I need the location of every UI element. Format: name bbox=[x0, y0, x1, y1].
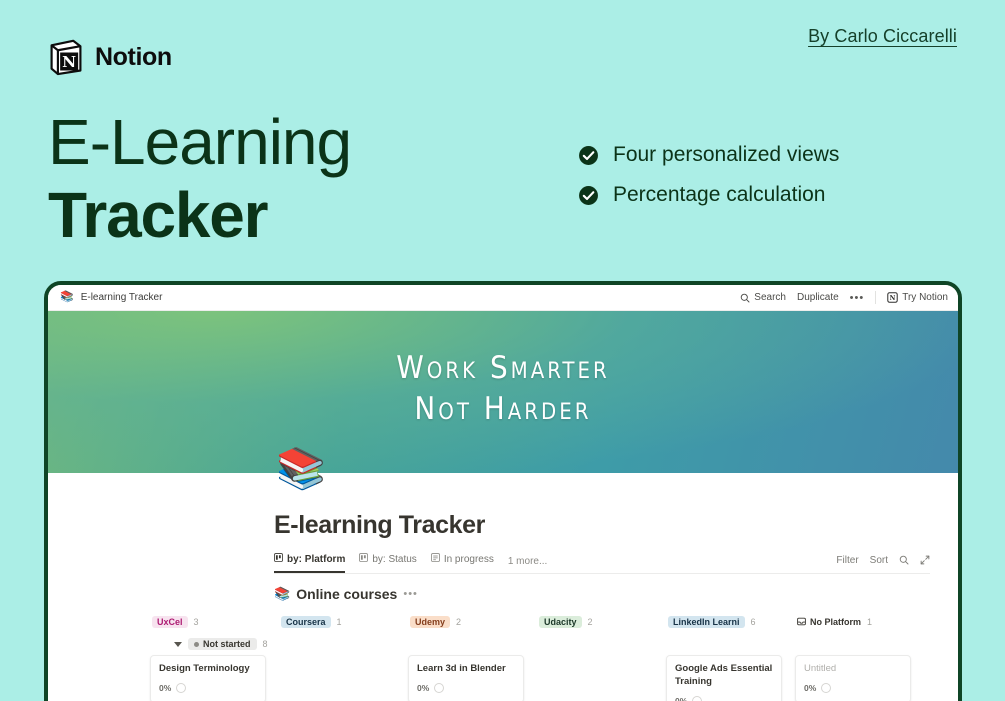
more-options-button[interactable]: ••• bbox=[850, 292, 865, 304]
filter-button[interactable]: Filter bbox=[836, 555, 858, 566]
feature-list: Four personalized views Percentage calcu… bbox=[578, 143, 839, 207]
window-titlebar: 📚 E-learning Tracker Search Duplicate ••… bbox=[48, 285, 958, 311]
landing-page: N Notion By Carlo Ciccarelli E-Learning … bbox=[0, 0, 1005, 701]
feature-item: Four personalized views bbox=[578, 143, 839, 167]
card-title: Untitled bbox=[804, 663, 902, 676]
card-meta: 0% bbox=[804, 683, 902, 693]
no-platform-icon bbox=[797, 617, 806, 628]
cover-image: Work Smarter Not Harder 📚 bbox=[48, 311, 958, 473]
board-card[interactable]: Design Terminology 0% bbox=[150, 655, 266, 701]
tab-in-progress[interactable]: In progress bbox=[431, 553, 494, 573]
group-label: Not started bbox=[203, 639, 251, 649]
board-column: Udacity 2 bbox=[531, 611, 659, 633]
brand-name: Notion bbox=[95, 43, 172, 72]
board-column-header[interactable]: Udacity 2 bbox=[531, 611, 659, 633]
try-notion-label: Try Notion bbox=[902, 292, 948, 303]
group-row-not-started[interactable]: Not started 8 bbox=[172, 633, 958, 655]
notion-content: E-learning Tracker by: Platform bbox=[48, 473, 958, 602]
card-percent: 0% bbox=[417, 683, 429, 693]
tab-label: by: Status bbox=[372, 554, 416, 565]
card-meta: 0% bbox=[159, 683, 257, 693]
card-title: Google Ads Essential Training bbox=[675, 663, 773, 689]
board-card-column: Design Terminology 0% bbox=[144, 655, 272, 701]
progress-ring-icon bbox=[692, 696, 702, 701]
page-title: E-Learning Tracker bbox=[48, 110, 351, 249]
board-column-header[interactable]: UxCel 3 bbox=[144, 611, 272, 633]
author-link[interactable]: By Carlo Ciccarelli bbox=[808, 26, 957, 47]
tab-label: In progress bbox=[444, 554, 494, 565]
board-column: Coursera 1 bbox=[273, 611, 401, 633]
expand-icon[interactable] bbox=[920, 555, 930, 565]
sort-button[interactable]: Sort bbox=[870, 555, 888, 566]
feature-label: Percentage calculation bbox=[613, 183, 825, 207]
cover-line-2: Not Harder bbox=[48, 389, 958, 430]
board-column-header[interactable]: Udemy 2 bbox=[402, 611, 530, 633]
browser-window: 📚 E-learning Tracker Search Duplicate ••… bbox=[44, 281, 962, 701]
tab-by-status[interactable]: by: Status bbox=[359, 553, 416, 573]
column-count: 3 bbox=[194, 617, 199, 627]
progress-ring-icon bbox=[176, 683, 186, 693]
board-card-column bbox=[531, 655, 659, 701]
notion-page-title[interactable]: E-learning Tracker bbox=[274, 511, 930, 540]
progress-ring-icon bbox=[434, 683, 444, 693]
tab-by-platform[interactable]: by: Platform bbox=[274, 553, 345, 573]
status-dot-icon bbox=[194, 642, 199, 647]
board-column: No Platform 1 bbox=[789, 611, 917, 633]
divider bbox=[875, 291, 876, 304]
board-card-column: Untitled 0% bbox=[789, 655, 917, 701]
cover-text: Work Smarter Not Harder bbox=[48, 348, 958, 430]
board-view: UxCel 3 Coursera 1 Udemy 2 bbox=[144, 611, 958, 701]
list-view-icon bbox=[431, 553, 440, 565]
status-badge: Coursera bbox=[281, 616, 331, 628]
status-badge: Udacity bbox=[539, 616, 582, 628]
view-tools: Filter Sort bbox=[836, 555, 930, 572]
check-circle-icon bbox=[578, 145, 599, 166]
svg-text:N: N bbox=[890, 295, 896, 302]
notion-icon: N bbox=[887, 292, 898, 303]
board-card[interactable]: Google Ads Essential Training 0% bbox=[666, 655, 782, 701]
no-platform-text: No Platform bbox=[810, 617, 861, 627]
more-views-button[interactable]: 1 more... bbox=[508, 556, 547, 573]
board-cards: Design Terminology 0% Learn 3d in Blende… bbox=[144, 655, 958, 701]
database-title: 📚 Online courses ••• bbox=[274, 586, 930, 602]
card-title: Learn 3d in Blender bbox=[417, 663, 515, 676]
feature-label: Four personalized views bbox=[613, 143, 839, 167]
card-meta: 0% bbox=[675, 696, 773, 701]
progress-ring-icon bbox=[821, 683, 831, 693]
try-notion-button[interactable]: N Try Notion bbox=[887, 292, 948, 303]
group-count: 8 bbox=[263, 639, 268, 649]
board-column-header[interactable]: LinkedIn Learni 6 bbox=[660, 611, 788, 633]
card-percent: 0% bbox=[804, 683, 816, 693]
search-label: Search bbox=[754, 292, 786, 303]
board-card[interactable]: Untitled 0% bbox=[795, 655, 911, 701]
board-column: UxCel 3 bbox=[144, 611, 272, 633]
board-card-column: Learn 3d in Blender 0% bbox=[402, 655, 530, 701]
column-count: 6 bbox=[751, 617, 756, 627]
status-badge: LinkedIn Learni bbox=[668, 616, 745, 628]
search-icon bbox=[740, 293, 750, 303]
database-name[interactable]: Online courses bbox=[296, 586, 397, 602]
status-badge: Not started bbox=[188, 638, 257, 650]
notion-brand: N Notion bbox=[48, 38, 172, 76]
card-title: Design Terminology bbox=[159, 663, 257, 676]
search-icon[interactable] bbox=[899, 555, 909, 565]
card-meta: 0% bbox=[417, 683, 515, 693]
headline-line-1: E-Learning bbox=[48, 110, 351, 175]
svg-text:N: N bbox=[62, 53, 76, 71]
board-view-icon bbox=[359, 553, 368, 565]
tab-label: by: Platform bbox=[287, 554, 345, 565]
card-percent: 0% bbox=[159, 683, 171, 693]
check-circle-icon bbox=[578, 185, 599, 206]
board-column-headers: UxCel 3 Coursera 1 Udemy 2 bbox=[144, 611, 958, 633]
board-card[interactable]: Learn 3d in Blender 0% bbox=[408, 655, 524, 701]
no-platform-label: No Platform bbox=[797, 617, 861, 628]
database-menu-button[interactable]: ••• bbox=[403, 588, 418, 600]
board-card-column: Google Ads Essential Training 0% bbox=[660, 655, 788, 701]
board-column-header[interactable]: No Platform 1 bbox=[789, 611, 917, 633]
card-percent: 0% bbox=[675, 696, 687, 701]
column-count: 1 bbox=[867, 617, 872, 627]
board-column: LinkedIn Learni 6 bbox=[660, 611, 788, 633]
titlebar-left: 📚 E-learning Tracker bbox=[60, 292, 162, 303]
board-column-header[interactable]: Coursera 1 bbox=[273, 611, 401, 633]
board-view-icon bbox=[274, 553, 283, 565]
database-emoji-icon: 📚 bbox=[274, 586, 290, 602]
window-title: E-learning Tracker bbox=[81, 292, 163, 303]
triangle-down-icon[interactable] bbox=[174, 642, 182, 647]
titlebar-actions: Search Duplicate ••• N Try Notion bbox=[740, 291, 948, 304]
feature-item: Percentage calculation bbox=[578, 183, 839, 207]
status-badge: Udemy bbox=[410, 616, 450, 628]
status-badge: UxCel bbox=[152, 616, 188, 628]
view-toolbar: by: Platform by: Status bbox=[274, 553, 930, 574]
board-column: Udemy 2 bbox=[402, 611, 530, 633]
board-card-column bbox=[273, 655, 401, 701]
column-count: 2 bbox=[456, 617, 461, 627]
notion-page-body: E-learning Tracker by: Platform bbox=[48, 473, 958, 701]
view-tabs: by: Platform by: Status bbox=[274, 553, 547, 573]
duplicate-button[interactable]: Duplicate bbox=[797, 292, 839, 303]
search-button[interactable]: Search bbox=[740, 292, 786, 303]
notion-cube-icon: N bbox=[48, 38, 84, 76]
page-icon-emoji[interactable]: 📚 bbox=[276, 449, 326, 489]
column-count: 2 bbox=[588, 617, 593, 627]
cover-line-1: Work Smarter bbox=[48, 348, 958, 389]
headline-line-2: Tracker bbox=[48, 183, 351, 248]
page-emoji-icon: 📚 bbox=[60, 292, 74, 303]
column-count: 1 bbox=[337, 617, 342, 627]
